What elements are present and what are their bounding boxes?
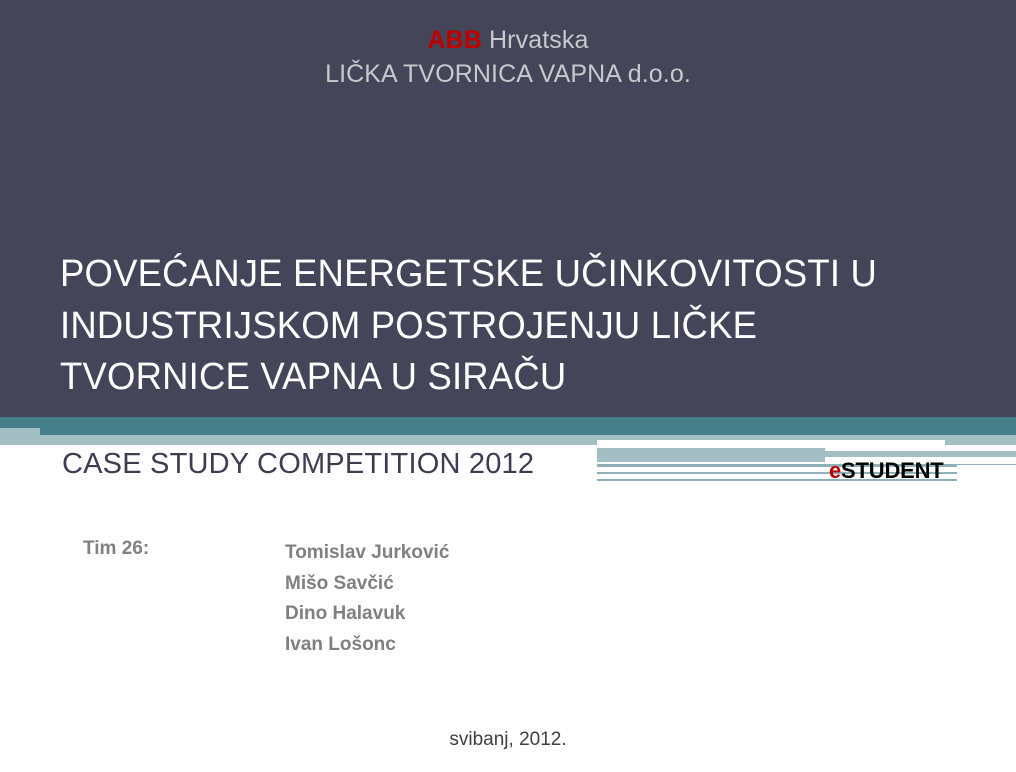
team-label: Tim 26: [83, 538, 149, 560]
decorative-band-teal [0, 417, 1016, 435]
list-item: Mišo Savčić [285, 569, 449, 600]
slide-title: POVEĆANJE ENERGETSKE UČINKOVITOSTI U IND… [60, 249, 929, 404]
organization-header: ABB Hrvatska LIČKA TVORNICA VAPNA d.o.o. [0, 28, 1016, 87]
list-item: Ivan Lošonc [285, 630, 449, 661]
decorative-cutout-mid [825, 448, 1016, 451]
slide-subtitle: CASE STUDY COMPETITION 2012 [62, 448, 534, 481]
estudent-logo-name: STUDENT [841, 458, 944, 483]
estudent-logo: eSTUDENT [829, 458, 944, 484]
presentation-slide: ABB Hrvatska LIČKA TVORNICA VAPNA d.o.o.… [0, 0, 1016, 772]
list-item: Dino Halavuk [285, 599, 449, 630]
decorative-long-rule [597, 464, 1016, 465]
decorative-nub-left [0, 428, 40, 435]
abb-country-text: Hrvatska [482, 26, 588, 54]
company-name-text: LIČKA TVORNICA VAPNA d.o.o. [0, 62, 1016, 87]
abb-brand-text: ABB [428, 26, 482, 54]
decorative-stripe-group [597, 435, 1016, 485]
estudent-logo-prefix: e [829, 458, 841, 483]
slide-footer-date: svibanj, 2012. [0, 729, 1016, 751]
organization-name-line: ABB Hrvatska [0, 28, 1016, 53]
decorative-cutout-upper [597, 440, 945, 445]
team-member-list: Tomislav Jurković Mišo Savčić Dino Halav… [285, 538, 449, 660]
list-item: Tomislav Jurković [285, 538, 449, 569]
